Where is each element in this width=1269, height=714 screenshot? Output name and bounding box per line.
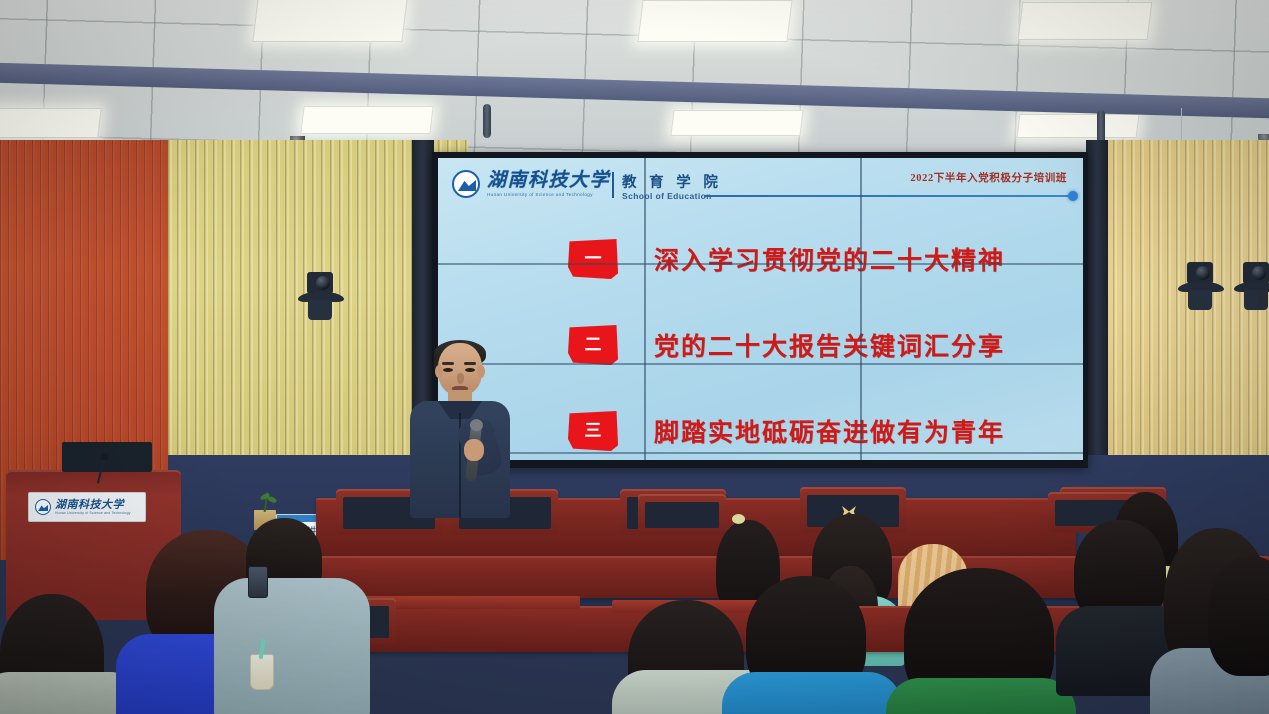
person-torso [886,678,1076,714]
presentation-slide: 湖南科技大学 Hunan University of Science and T… [438,158,1083,460]
ceiling-light-panel [1017,114,1140,138]
audience-member [1208,556,1269,714]
presenter-eye [443,368,453,372]
ceiling-light-panel [0,108,102,138]
presenter-ear [477,365,485,378]
agenda-number-badge: 三 [568,411,618,451]
lecture-hall-scene: 湖南科技大学 Hunan University of Science and T… [0,0,1269,714]
ceiling-light-panel [252,0,407,42]
ptz-camera-icon [298,272,344,324]
list-item: 三 脚踏实地砥砺奋进做有为青年 [438,388,1083,460]
person-torso [722,672,902,714]
audience-member [218,518,368,714]
agenda-item-text: 深入学习贯彻党的二十大精神 [654,241,1005,277]
university-name-cn: 湖南科技大学 [487,171,610,191]
video-wall-display[interactable]: 湖南科技大学 Hunan University of Science and T… [432,152,1088,468]
header-rule [704,195,1071,197]
header-divider [612,172,614,198]
slide-course-title: 2022下半年入党积极分子培训班 [910,170,1067,185]
lectern-plate-cn: 湖南科技大学 [55,500,131,511]
presenter-hand [464,439,484,461]
agenda-number-badge: 一 [568,239,618,279]
ceiling-speaker-drop [1097,110,1105,144]
presenter-eye [465,368,475,372]
hair-scrunchie [732,514,745,524]
college-name-en: School of Education [622,191,712,201]
ceiling [0,0,1269,152]
video-wall-seam [644,158,646,460]
audience-member [886,568,1076,714]
person-hair [1208,556,1269,676]
ptz-camera-icon [1234,262,1269,314]
audience-member [726,576,896,714]
screen-surround-right [1086,140,1108,480]
presenter-brow [464,362,476,365]
person-torso [214,578,370,714]
lectern-nameplate: 湖南科技大学 Hunan University of Science and T… [28,492,146,522]
agenda-number-badge: 二 [568,325,618,365]
ptz-camera-icon [1178,262,1224,314]
list-item: 二 党的二十大报告关键词汇分享 [438,302,1083,388]
ceiling-light-panel [670,110,803,136]
lectern-plate-en: Hunan University of Science and Technolo… [55,511,131,515]
video-wall-seam [438,263,1083,265]
presenter-nose [457,373,464,384]
video-wall-seam [438,452,1083,454]
header-accent-dot-icon [1068,191,1078,201]
video-wall-seam [860,158,862,460]
video-wall-seam [438,363,1083,365]
agenda-item-text: 脚踏实地砥砺奋进做有为青年 [654,413,1005,449]
ceiling-light-panel [300,106,433,134]
agenda-item-text: 党的二十大报告关键词汇分享 [654,327,1005,363]
university-crest-icon [35,499,51,515]
presenter [404,343,516,518]
ceiling-speaker-drop [483,104,491,138]
presenter-ear [435,365,443,378]
list-item: 一 深入学习贯彻党的二十大精神 [438,216,1083,302]
slide-agenda-list: 一 深入学习贯彻党的二十大精神 二 党的二十大报告关键词汇分享 三 脚踏实地砥砺… [438,216,1083,460]
agenda-number-label: 二 [585,336,602,353]
agenda-number-label: 三 [585,422,602,439]
college-name-cn: 教 育 学 院 [622,171,722,192]
university-name-en: Hunan University of Science and Technolo… [487,192,610,197]
ceiling-light-panel [1018,2,1153,40]
university-crest-icon [452,170,480,198]
drink-cup [250,654,274,690]
smartphone [248,566,268,598]
university-logo: 湖南科技大学 Hunan University of Science and T… [452,170,610,198]
ceiling-light-panel [637,0,792,42]
slide-header: 湖南科技大学 Hunan University of Science and T… [438,158,1083,216]
presenter-brow [442,362,454,365]
